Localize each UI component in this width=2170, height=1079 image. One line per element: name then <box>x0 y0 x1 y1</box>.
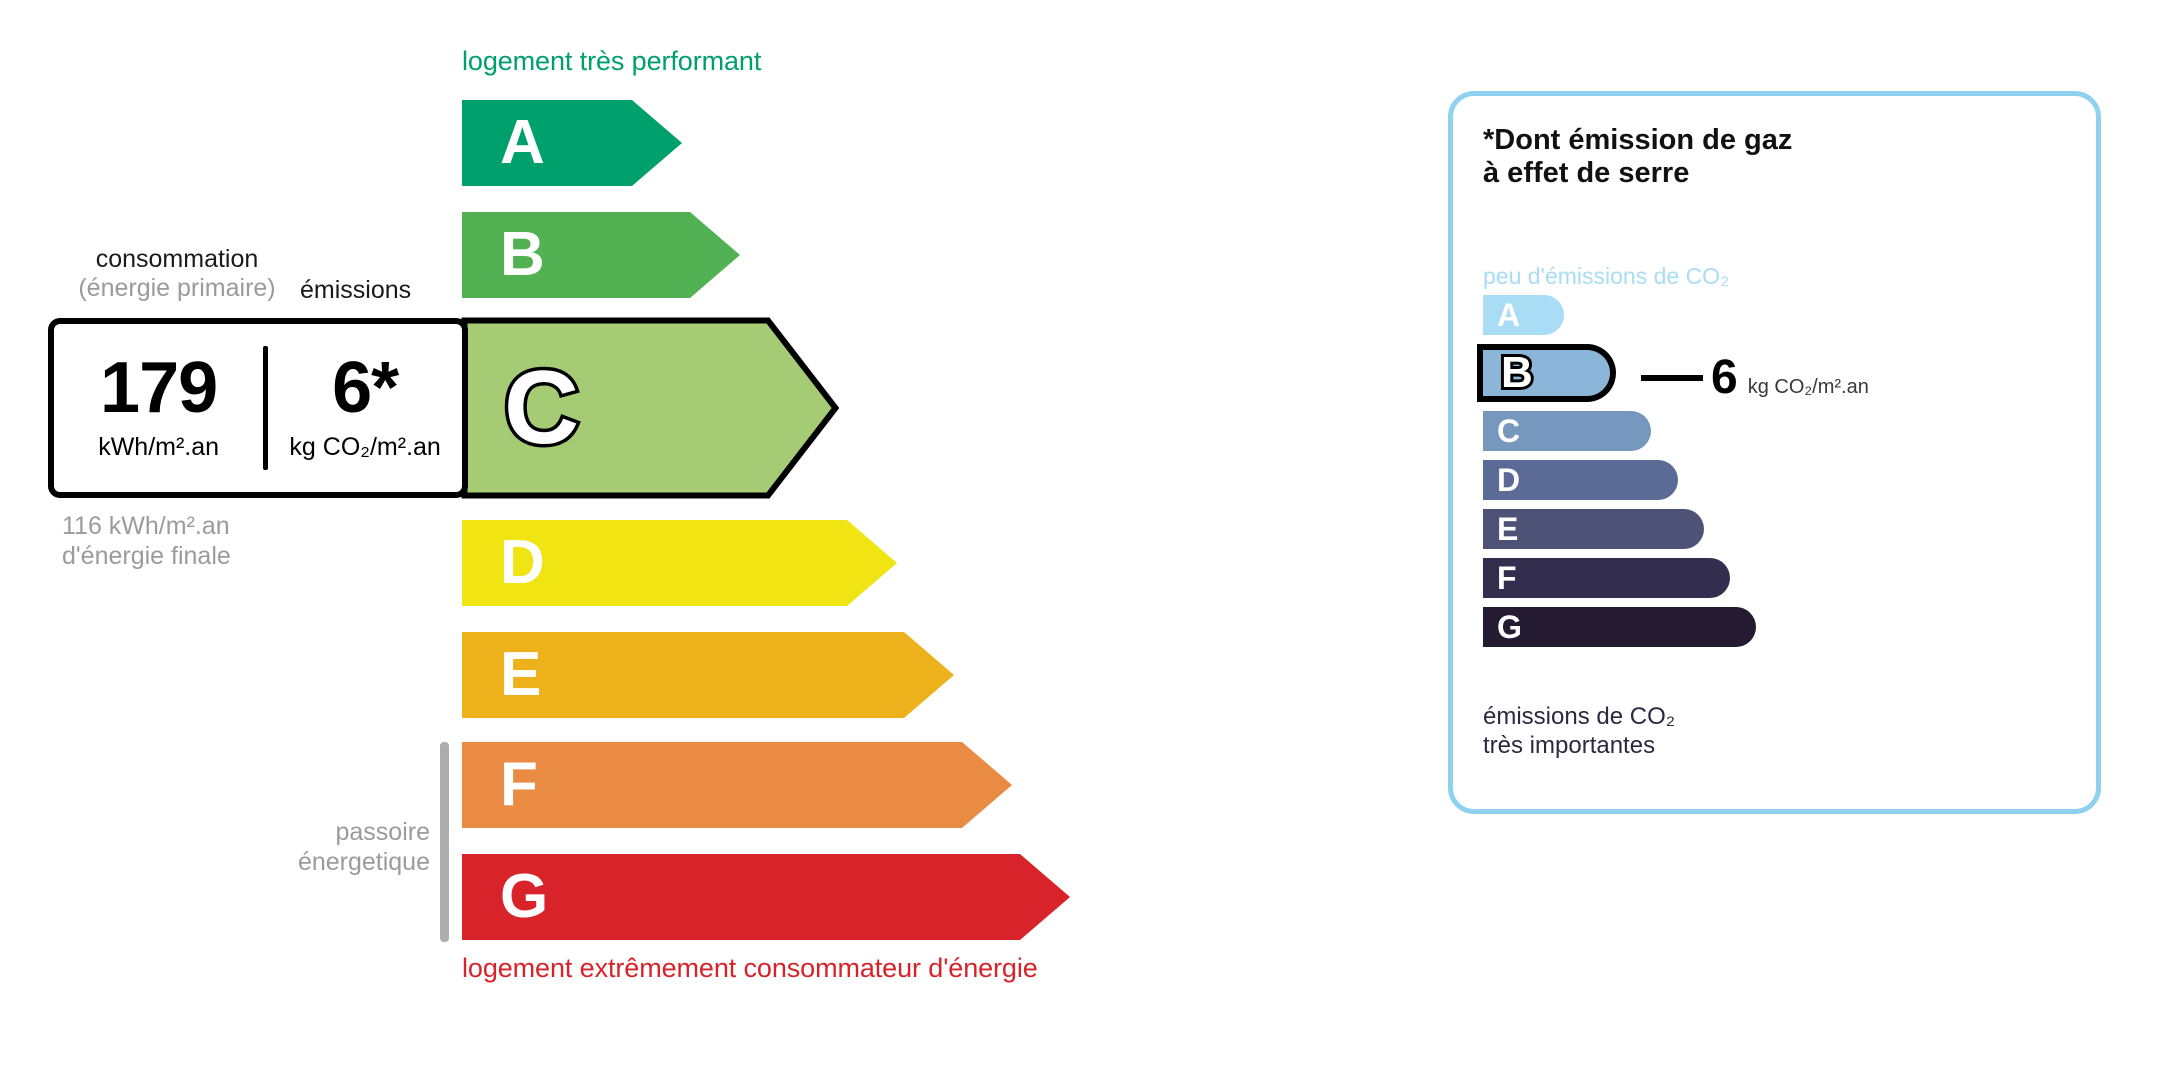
co2-leader-line <box>1641 375 1703 381</box>
energy-class-row-c: C <box>462 318 838 498</box>
co2-class-letter-e: E <box>1497 513 1518 545</box>
co2-top-legend: peu d'émissions de CO₂ <box>1483 263 1729 290</box>
co2-title-line-2: à effet de serre <box>1483 157 1792 190</box>
scale-bottom-legend: logement extrêmement consommateur d'éner… <box>462 953 1038 984</box>
emissions-unit: kg CO₂/m².an <box>289 433 440 462</box>
co2-bar-g <box>1483 607 1756 647</box>
co2-bar-a <box>1483 295 1564 335</box>
energy-class-row-g: G <box>462 854 1070 940</box>
energy-class-letter-b: B <box>500 224 545 286</box>
consumption-value: 179 <box>100 354 217 422</box>
energy-class-letter-f: F <box>500 754 538 816</box>
arrow-shape-g <box>462 854 1070 940</box>
co2-bar-f <box>1483 558 1730 598</box>
co2-class-letter-f: F <box>1497 562 1517 594</box>
energy-class-row-a: A <box>462 100 682 186</box>
co2-class-row-d: D <box>1483 460 1756 500</box>
co2-emissions-panel: *Dont émission de gaz à effet de serre p… <box>1448 91 2101 814</box>
energy-performance-diagram: logement très performant consommation (é… <box>0 0 1400 1079</box>
co2-class-letter-b: B <box>1501 351 1533 395</box>
energy-class-arrows: ABCDEFG <box>0 0 1400 1079</box>
co2-panel-title: *Dont émission de gaz à effet de serre <box>1483 124 1792 190</box>
consumption-cell: 179 kWh/m².an <box>54 324 263 492</box>
energy-class-row-b: B <box>462 212 740 298</box>
co2-class-row-g: G <box>1483 607 1756 647</box>
co2-unit: kg CO₂/m².an <box>1748 376 1869 399</box>
energy-class-letter-c: C <box>504 356 579 460</box>
emissions-value: 6* <box>332 354 398 422</box>
energy-class-row-f: F <box>462 742 1012 828</box>
energy-class-row-d: D <box>462 520 897 606</box>
energy-class-letter-g: G <box>500 866 548 928</box>
co2-value: 6 <box>1711 354 1738 402</box>
co2-class-row-a: A <box>1483 295 1756 335</box>
co2-class-letter-g: G <box>1497 611 1522 643</box>
arrow-shape-f <box>462 742 1012 828</box>
co2-class-letter-a: A <box>1497 299 1520 331</box>
co2-class-bars: ABCDEFG <box>1483 295 1756 656</box>
value-readout-box: 179 kWh/m².an 6* kg CO₂/m².an <box>48 318 468 498</box>
energy-class-letter-d: D <box>500 532 545 594</box>
emissions-cell: 6* kg CO₂/m².an <box>268 324 462 492</box>
energy-class-letter-e: E <box>500 644 541 706</box>
energy-class-row-e: E <box>462 632 954 718</box>
co2-bottom-line-2: très importantes <box>1483 732 1675 761</box>
co2-bottom-legend: émissions de CO₂ très importantes <box>1483 703 1675 761</box>
consumption-unit: kWh/m².an <box>98 433 219 462</box>
co2-class-row-f: F <box>1483 558 1756 598</box>
co2-title-line-1: *Dont émission de gaz <box>1483 124 1792 157</box>
co2-class-letter-d: D <box>1497 464 1520 496</box>
co2-class-letter-c: C <box>1497 415 1520 447</box>
co2-value-callout: 6 kg CO₂/m².an <box>1641 354 1869 402</box>
co2-class-row-c: C <box>1483 411 1756 451</box>
energy-class-letter-a: A <box>500 112 545 174</box>
co2-class-row-e: E <box>1483 509 1756 549</box>
arrow-shape-a <box>462 100 682 186</box>
co2-bottom-line-1: émissions de CO₂ <box>1483 703 1675 732</box>
